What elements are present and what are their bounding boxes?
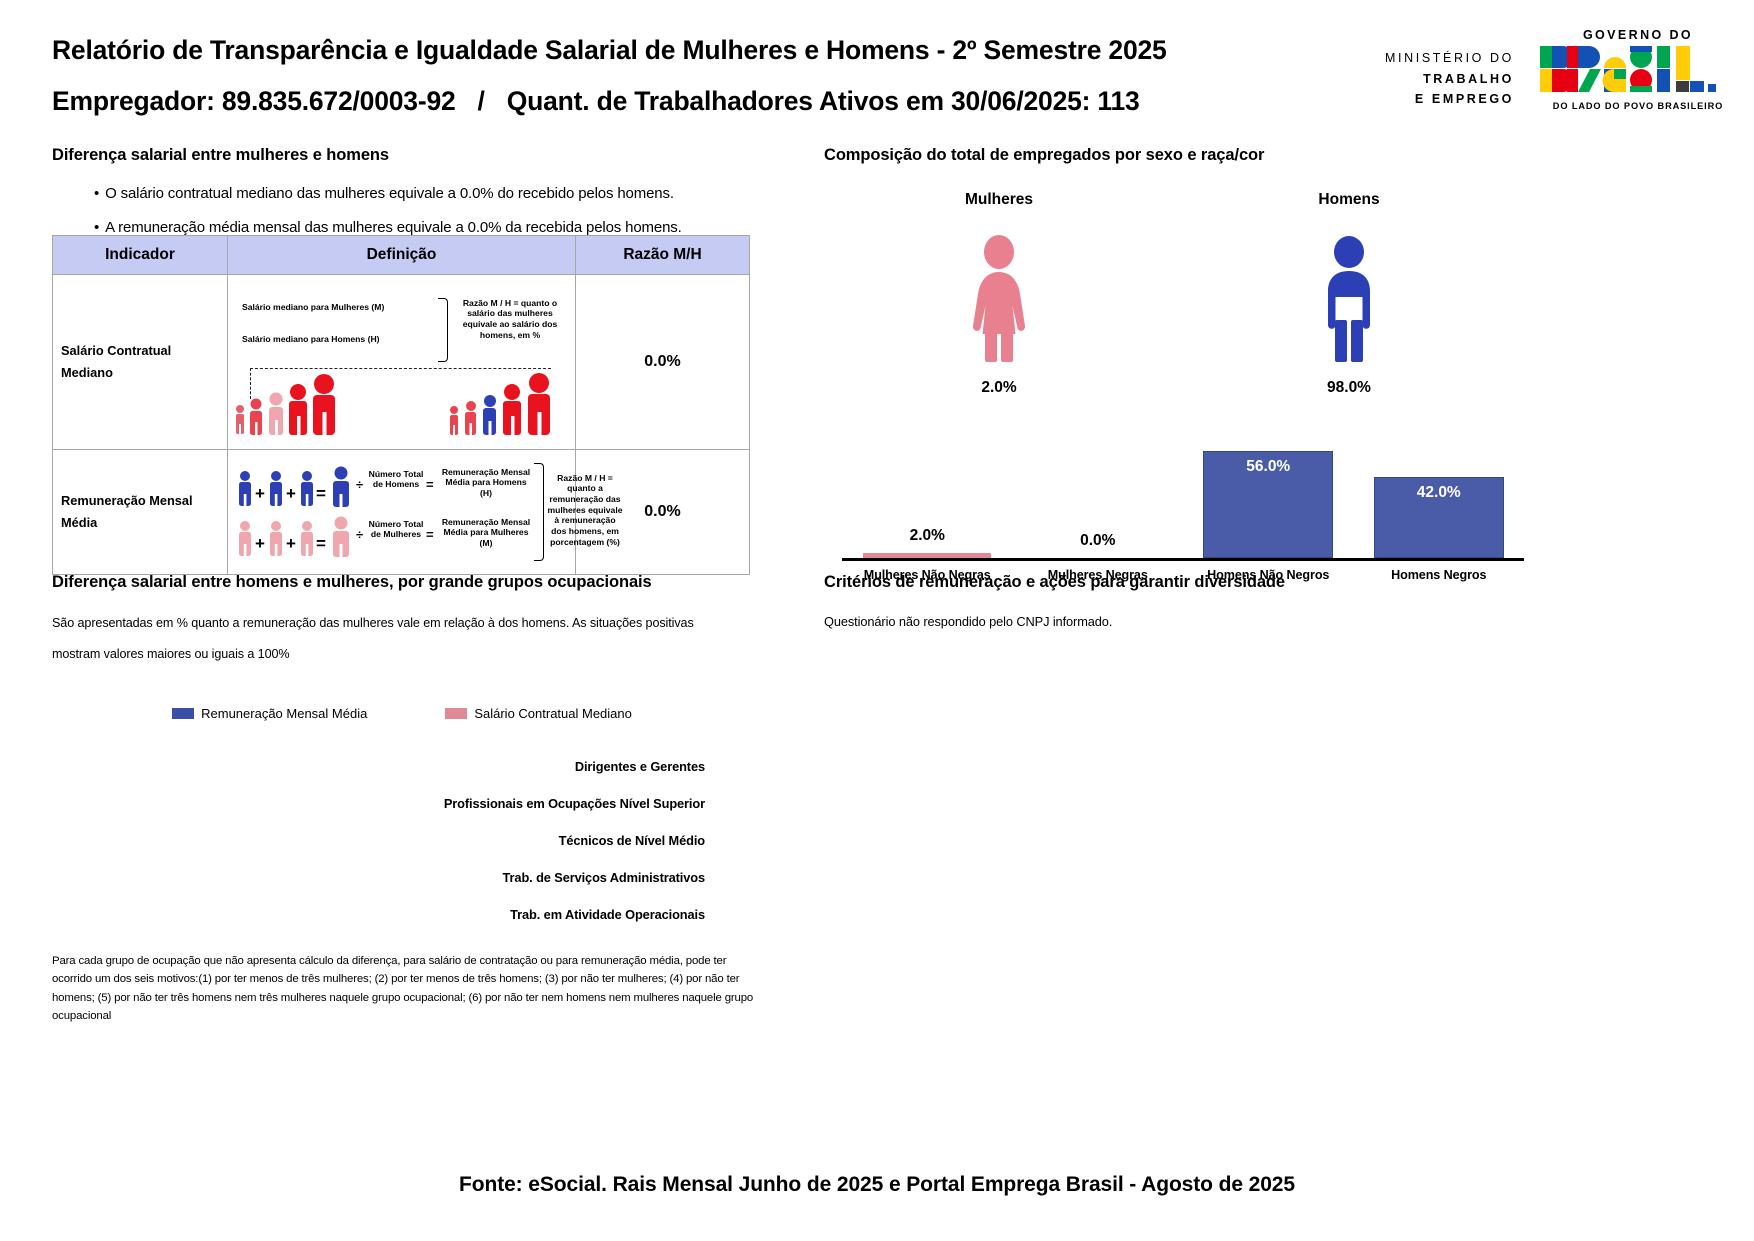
men-formula-pictogram-icon: + + = xyxy=(236,465,356,509)
female-figure-icon xyxy=(961,232,1037,362)
infographic-note-ratio: Razão M / H = quanto o salário das mulhe… xyxy=(454,298,566,341)
svg-text:=: = xyxy=(316,534,326,553)
bar-value-label: 2.0% xyxy=(910,527,945,545)
chart-x-axis xyxy=(842,558,1524,561)
svg-text:=: = xyxy=(316,484,326,503)
women-total-label: Número Total de Mulheres xyxy=(368,519,424,540)
monthly-pay-infographic: + + = xyxy=(228,455,575,570)
ministry-line-2: TRABALHO xyxy=(1385,69,1514,90)
men-pictogram-group-icon xyxy=(444,368,574,440)
indicator-line-1: Remuneração Mensal xyxy=(61,490,221,512)
occupational-description-line-1: São apresentadas em % quanto a remuneraç… xyxy=(52,608,752,639)
bar-group-mulheres-negras: 0.0% xyxy=(1013,434,1184,558)
race-sex-bar-chart: 2.0% 0.0% 56.0% xyxy=(824,433,1524,589)
brasil-wordmark-icon xyxy=(1540,46,1736,92)
row-definition-monthly-pay: + + = xyxy=(228,450,576,575)
pay-gap-bullets: •O salário contratual mediano das mulher… xyxy=(94,185,752,237)
page-footer: Fonte: eSocial. Rais Mensal Junho de 202… xyxy=(0,1173,1754,1197)
legend-swatch-icon xyxy=(172,708,194,719)
divide-operator-women-icon: ÷ xyxy=(356,527,363,542)
bullet-dot-icon: • xyxy=(94,185,99,202)
column-header-indicator: Indicador xyxy=(53,236,228,275)
divide-operator-men-icon: ÷ xyxy=(356,477,363,492)
legend-item-remuneracao: Remuneração Mensal Média xyxy=(172,706,367,721)
employer-line: Empregador: 89.835.672/0003-92/Quant. de… xyxy=(52,85,1167,118)
svg-text:+: + xyxy=(255,484,265,503)
criteria-section: Critérios de remuneração e ações para ga… xyxy=(824,573,1524,629)
table-row: Remuneração Mensal Média + xyxy=(53,450,750,575)
bullet-text: O salário contratual mediano das mulhere… xyxy=(105,185,674,202)
composition-figures: Mulheres 2.0% Homens xyxy=(824,191,1524,397)
occupational-group-dirigentes: Dirigentes e Gerentes xyxy=(52,759,752,774)
active-workers-label: Quant. de Trabalhadores Ativos em 30/06/… xyxy=(507,86,1140,116)
composition-women-percent: 2.0% xyxy=(824,379,1174,397)
header-logos: MINISTÉRIO DO TRABALHO E EMPREGO GOVERNO… xyxy=(1385,28,1736,111)
composition-section: Composição do total de empregados por se… xyxy=(824,146,1524,589)
composition-women-figure xyxy=(824,227,1174,362)
criteria-description: Questionário não respondido pelo CNPJ in… xyxy=(824,614,1524,629)
report-page: Relatório de Transparência e Igualdade S… xyxy=(0,0,1754,1241)
list-item: •O salário contratual mediano das mulher… xyxy=(94,185,752,203)
pay-gap-heading: Diferença salarial entre mulheres e home… xyxy=(52,146,752,165)
occupational-group-nivel-superior: Profissionais em Ocupações Nível Superio… xyxy=(52,796,752,811)
occupational-description-line-2: mostram valores maiores ou iguais a 100% xyxy=(52,639,752,670)
ministry-logo: MINISTÉRIO DO TRABALHO E EMPREGO xyxy=(1385,28,1514,110)
table-header-row: Indicador Definição Razão M/H xyxy=(53,236,750,275)
svg-text:+: + xyxy=(255,534,265,553)
bar-group-homens-negros: 42.0% xyxy=(1354,434,1525,558)
occupational-section: Diferença salarial entre homens e mulher… xyxy=(52,573,752,1026)
svg-text:+: + xyxy=(286,534,296,553)
men-total-label: Número Total de Homens xyxy=(368,469,424,490)
occupational-heading: Diferença salarial entre homens e mulher… xyxy=(52,573,752,592)
women-result-label: Remuneração Mensal Média para Mulheres (… xyxy=(440,517,532,549)
legend-swatch-icon xyxy=(445,708,467,719)
occupational-legend: Remuneração Mensal Média Salário Contrat… xyxy=(52,706,752,721)
ministry-line-3: E EMPREGO xyxy=(1385,89,1514,110)
page-header: Relatório de Transparência e Igualdade S… xyxy=(0,0,1754,128)
composition-women: Mulheres 2.0% xyxy=(824,191,1174,397)
bullet-text: A remuneração média mensal das mulheres … xyxy=(105,219,682,236)
indicator-line-2: Média xyxy=(61,512,221,534)
governo-do-brasil-logo: GOVERNO DO xyxy=(1540,28,1736,111)
criteria-heading: Critérios de remuneração e ações para ga… xyxy=(824,573,1524,592)
pay-gap-table: Indicador Definição Razão M/H Salário Co… xyxy=(52,235,750,575)
bar-homens-nao-negros: 56.0% xyxy=(1203,451,1333,558)
gov-logo-bottom-text: DO LADO DO POVO BRASILEIRO xyxy=(1540,101,1736,111)
brace-icon xyxy=(438,298,448,362)
table-row: Salário Contratual Mediano Salário media… xyxy=(53,275,750,450)
infographic-note-ratio: Razão M / H = quanto a remuneração das m… xyxy=(546,473,624,548)
bullet-dot-icon: • xyxy=(94,219,99,236)
infographic-label-men-median: Salário mediano para Homens (H) xyxy=(242,334,380,345)
chart-plot-area: 2.0% 0.0% 56.0% xyxy=(824,433,1524,561)
bar-value-label: 0.0% xyxy=(1080,532,1115,550)
bar-group-homens-nao-negros: 56.0% xyxy=(1183,434,1354,558)
bar-homens-negros: 42.0% xyxy=(1374,477,1504,558)
header-title-block: Relatório de Transparência e Igualdade S… xyxy=(52,34,1167,118)
header-separator: / xyxy=(456,85,507,118)
row-indicator-median-salary: Salário Contratual Mediano xyxy=(53,275,228,450)
row-ratio-median-salary: 0.0% xyxy=(576,275,750,450)
occupational-footnote: Para cada grupo de ocupação que não apre… xyxy=(52,952,754,1026)
men-result-label: Remuneração Mensal Média para Homens (H) xyxy=(440,467,532,499)
brace-icon xyxy=(534,463,544,561)
svg-text:+: + xyxy=(286,484,296,503)
occupational-group-labels: Dirigentes e Gerentes Profissionais em O… xyxy=(52,759,752,922)
chart-bars: 2.0% 0.0% 56.0% xyxy=(842,434,1524,558)
gov-logo-top-text: GOVERNO DO xyxy=(1540,28,1736,42)
occupational-description: São apresentadas em % quanto a remuneraç… xyxy=(52,608,752,670)
bar-value-label: 42.0% xyxy=(1417,484,1461,502)
occupational-group-atividade-operacionais: Trab. em Atividade Operacionais xyxy=(52,907,752,922)
ministry-line-1: MINISTÉRIO DO xyxy=(1385,48,1514,69)
women-formula-pictogram-icon: + + = xyxy=(236,515,356,559)
composition-heading: Composição do total de empregados por se… xyxy=(824,146,1524,165)
male-figure-icon xyxy=(1311,232,1387,362)
column-header-definition: Definição xyxy=(228,236,576,275)
legend-label: Remuneração Mensal Média xyxy=(201,706,367,721)
composition-men-percent: 98.0% xyxy=(1174,379,1524,397)
composition-women-label: Mulheres xyxy=(824,191,1174,209)
infographic-label-women-median: Salário mediano para Mulheres (M) xyxy=(242,302,384,313)
employer-label: Empregador: 89.835.672/0003-92 xyxy=(52,86,456,116)
composition-men-figure xyxy=(1174,227,1524,362)
occupational-group-nivel-medio: Técnicos de Nível Médio xyxy=(52,833,752,848)
bar-value-label: 56.0% xyxy=(1246,458,1290,476)
equals-operator-men-icon: = xyxy=(426,477,434,492)
page-title: Relatório de Transparência e Igualdade S… xyxy=(52,34,1167,67)
row-indicator-monthly-pay: Remuneração Mensal Média xyxy=(53,450,228,575)
equals-operator-women-icon: = xyxy=(426,527,434,542)
composition-men-label: Homens xyxy=(1174,191,1524,209)
column-header-ratio: Razão M/H xyxy=(576,236,750,275)
occupational-group-servicos-administrativos: Trab. de Serviços Administrativos xyxy=(52,870,752,885)
median-salary-infographic: Salário mediano para Mulheres (M) Salári… xyxy=(228,280,575,445)
legend-label: Salário Contratual Mediano xyxy=(474,706,632,721)
composition-men: Homens 98.0% xyxy=(1174,191,1524,397)
women-pictogram-group-icon xyxy=(230,368,430,440)
legend-item-salario: Salário Contratual Mediano xyxy=(445,706,632,721)
row-definition-median-salary: Salário mediano para Mulheres (M) Salári… xyxy=(228,275,576,450)
bar-group-mulheres-nao-negras: 2.0% xyxy=(842,434,1013,558)
